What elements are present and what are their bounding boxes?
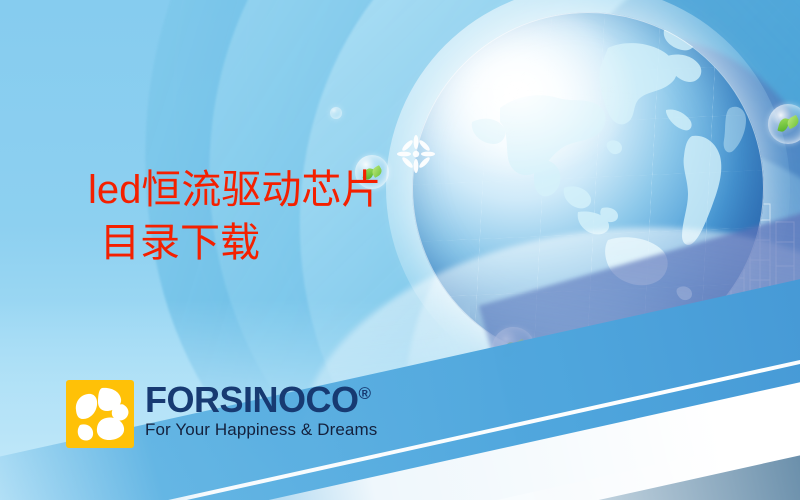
bubble-with-green-leaves-2 — [492, 327, 535, 370]
registered-trademark-icon: ® — [359, 384, 371, 403]
leaf-icon — [785, 115, 800, 129]
brand-tagline: For Your Happiness & Dreams — [145, 420, 377, 440]
globe-latitude-line — [412, 64, 764, 81]
forsinoco-pinwheel-icon — [66, 380, 134, 448]
company-logo: FORSINOCO® For Your Happiness & Dreams — [66, 380, 377, 448]
globe-latitude-line — [412, 113, 764, 130]
city-skyline-icon — [600, 170, 800, 340]
leaf-icon — [511, 338, 528, 354]
headline: led恒流驱动芯片 目录下载 — [88, 164, 418, 270]
promo-banner: led恒流驱动芯片 目录下载 FORSINOCO® For Your Happi… — [0, 0, 800, 500]
brand-name-text: FORSINOCO — [145, 379, 359, 420]
headline-line-2: 目录下载 — [88, 217, 418, 270]
brand-name: FORSINOCO® — [145, 381, 377, 419]
logo-text-block: FORSINOCO® For Your Happiness & Dreams — [145, 380, 377, 440]
globe-longitude-line — [533, 12, 553, 364]
headline-line-1: led恒流驱动芯片 — [88, 164, 418, 217]
corner-band-steel — [457, 380, 800, 500]
bubble-with-green-leaves-3 — [768, 104, 800, 144]
pinwheel-petals-icon — [66, 380, 134, 448]
small-bubble-4 — [330, 107, 342, 119]
globe-longitude-line — [473, 12, 493, 364]
